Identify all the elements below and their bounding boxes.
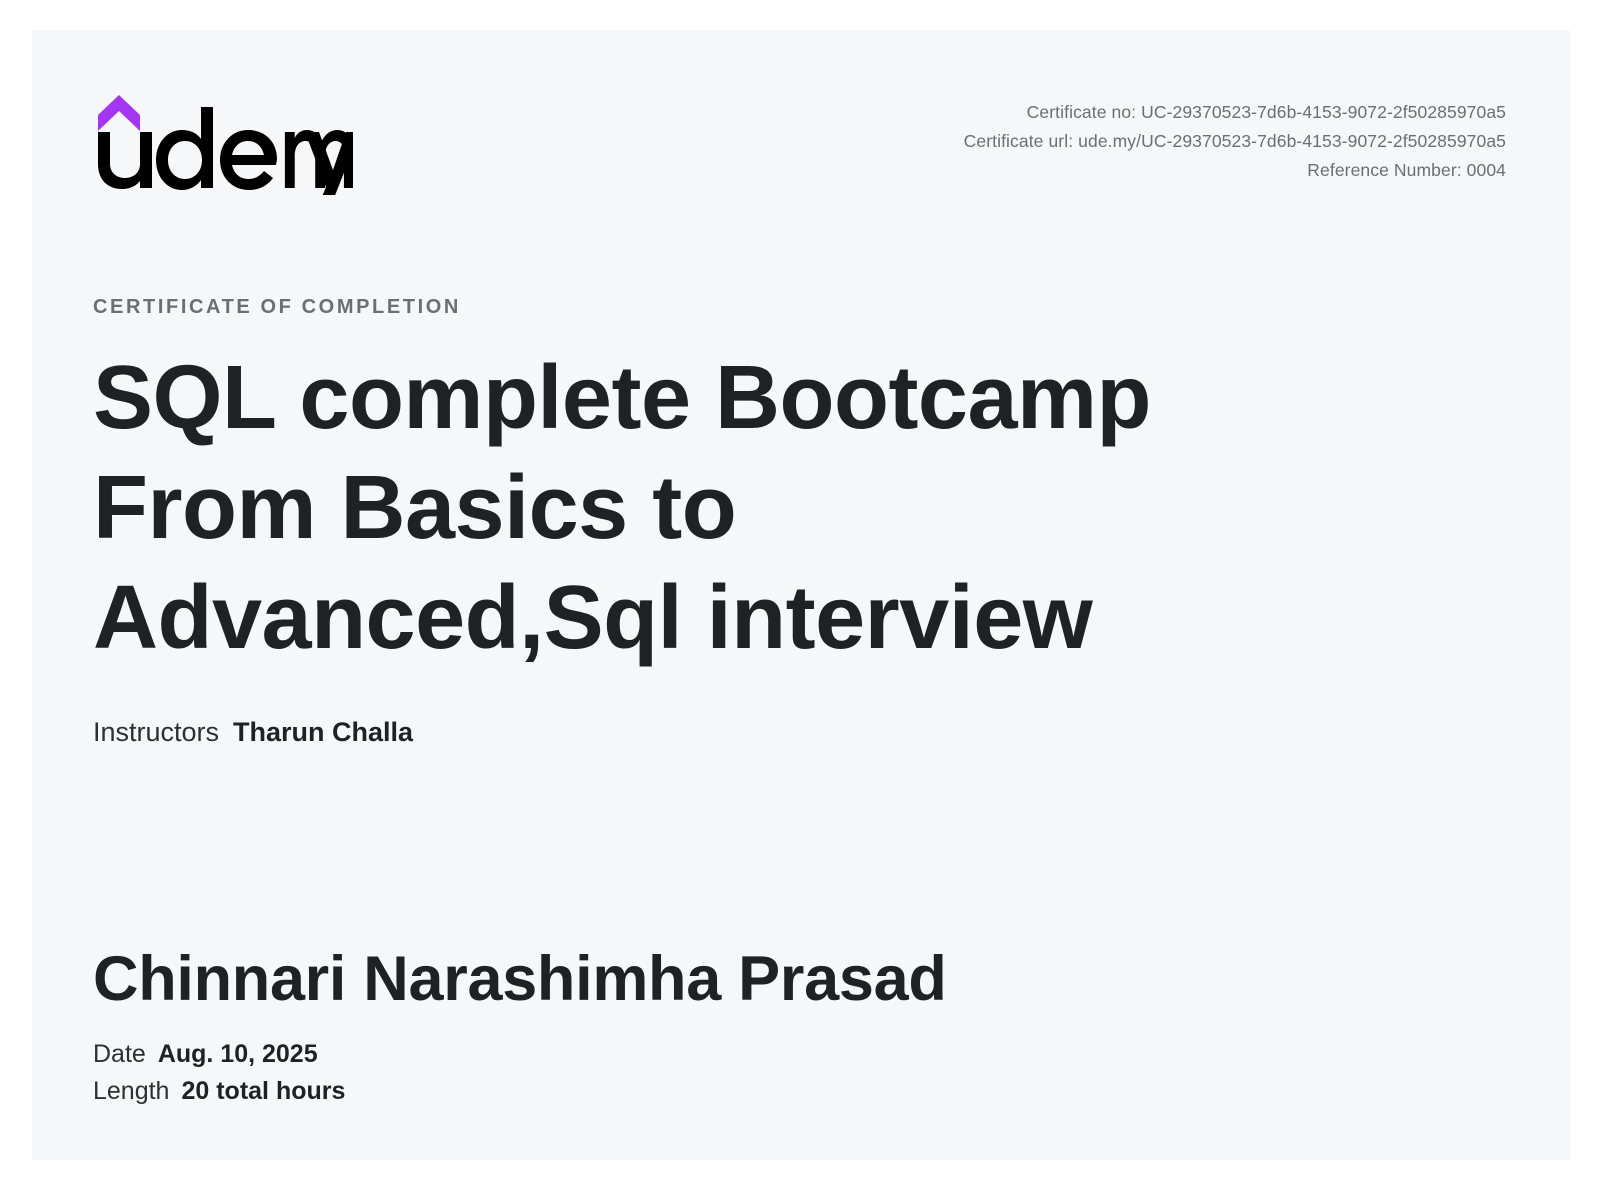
certificate-number: Certificate no: UC-29370523-7d6b-4153-90… [964,98,1506,127]
date-value: Aug. 10, 2025 [158,1040,318,1068]
certificate-footer: Chinnari Narashimha Prasad DateAug. 10, … [93,940,1510,1110]
instructors-value: Tharun Challa [233,717,413,747]
certificate-url: Certificate url: ude.my/UC-29370523-7d6b… [964,127,1506,156]
certificate-header: Certificate no: UC-29370523-7d6b-4153-90… [32,30,1570,210]
length-row: Length20 total hours [93,1073,1510,1110]
recipient-name: Chinnari Narashimha Prasad [93,940,1510,1018]
course-title: SQL complete Bootcamp From Basics to Adv… [93,343,1283,673]
date-label: Date [93,1040,146,1068]
certificate-kicker: CERTIFICATE OF COMPLETION [93,295,1510,319]
instructors-label: Instructors [93,717,219,747]
length-label: Length [93,1077,169,1105]
certificate-metadata: Certificate no: UC-29370523-7d6b-4153-90… [964,98,1506,185]
certificate-body: CERTIFICATE OF COMPLETION SQL complete B… [93,295,1510,750]
length-value: 20 total hours [181,1077,345,1105]
instructors-row: InstructorsTharun Challa [93,715,1510,750]
date-row: DateAug. 10, 2025 [93,1036,1510,1073]
udemy-logo [93,85,353,195]
certificate-page: Certificate no: UC-29370523-7d6b-4153-90… [32,30,1570,1160]
reference-number: Reference Number: 0004 [964,156,1506,185]
chevron-up-icon [98,95,140,131]
